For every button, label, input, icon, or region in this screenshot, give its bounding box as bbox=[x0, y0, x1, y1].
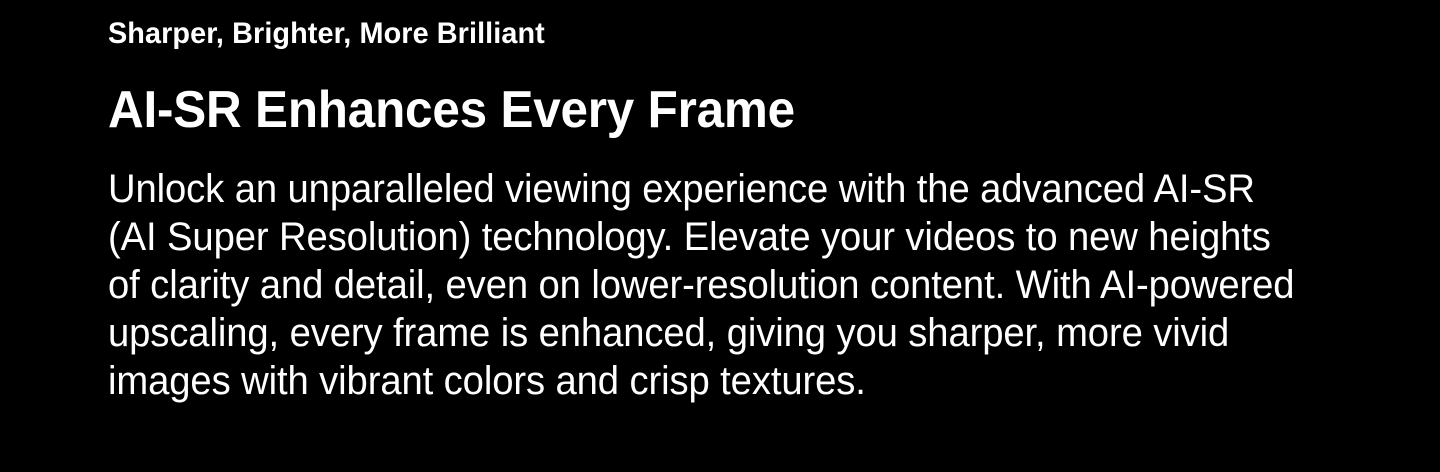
promo-headline: AI-SR Enhances Every Frame bbox=[108, 79, 1262, 141]
promo-body-text: Unlock an unparalleled viewing experienc… bbox=[108, 165, 1307, 405]
promo-eyebrow: Sharper, Brighter, More Brilliant bbox=[108, 14, 1274, 54]
ai-sr-promo-section: Sharper, Brighter, More Brilliant AI-SR … bbox=[0, 0, 1440, 472]
promo-content: Sharper, Brighter, More Brilliant AI-SR … bbox=[108, 14, 1323, 405]
